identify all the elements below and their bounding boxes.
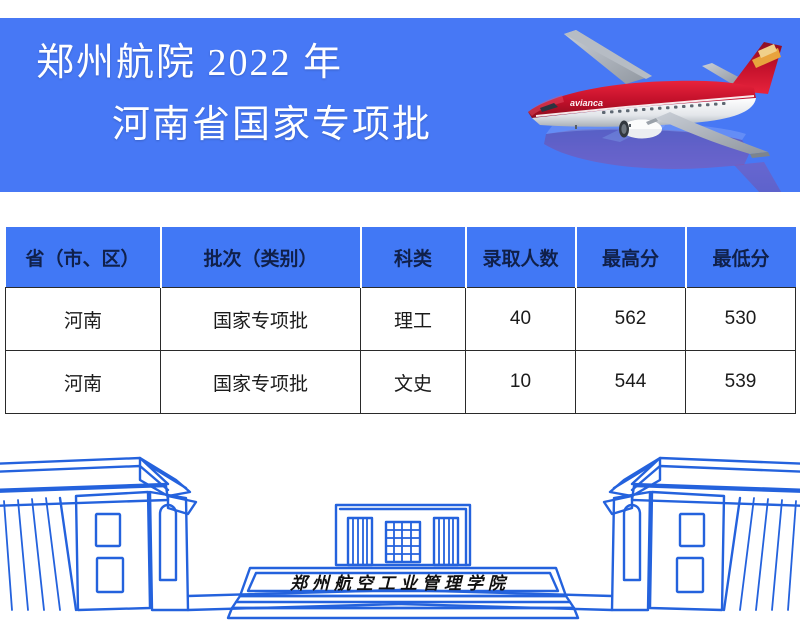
column-header-province: 省（市、区） bbox=[6, 227, 161, 288]
cell-category: 理工 bbox=[361, 288, 466, 351]
header-banner: 郑州航院 2022 年 河南省国家专项批 bbox=[0, 18, 800, 192]
column-header-lowest: 最低分 bbox=[686, 227, 796, 288]
left-gate-pavilion bbox=[0, 458, 400, 610]
table-row: 河南 国家专项批 文史 10 544 539 bbox=[6, 351, 796, 414]
center-pavilion bbox=[228, 505, 578, 618]
column-header-admitted: 录取人数 bbox=[466, 227, 576, 288]
cell-admitted: 40 bbox=[466, 288, 576, 351]
admission-score-table: 省（市、区） 批次（类别） 科类 录取人数 最高分 最低分 河南 国家专项批 理… bbox=[5, 227, 796, 414]
cell-batch: 国家专项批 bbox=[161, 288, 361, 351]
cell-lowest: 530 bbox=[686, 288, 796, 351]
cell-province: 河南 bbox=[6, 288, 161, 351]
cell-province: 河南 bbox=[6, 351, 161, 414]
column-header-category: 科类 bbox=[361, 227, 466, 288]
airliner-icon: avianca bbox=[506, 26, 796, 192]
right-gate-pavilion bbox=[400, 458, 800, 610]
university-gate-illustration: 郑州航空工业管理学院 bbox=[0, 440, 800, 636]
cell-lowest: 539 bbox=[686, 351, 796, 414]
cell-batch: 国家专项批 bbox=[161, 351, 361, 414]
cell-highest: 562 bbox=[576, 288, 686, 351]
column-header-highest: 最高分 bbox=[576, 227, 686, 288]
cell-admitted: 10 bbox=[466, 351, 576, 414]
banner-title-line-1: 郑州航院 2022 年 bbox=[0, 32, 560, 94]
column-header-batch: 批次（类别） bbox=[161, 227, 361, 288]
banner-title-line-2: 河南省国家专项批 bbox=[0, 94, 560, 156]
table-row: 河南 国家专项批 理工 40 562 530 bbox=[6, 288, 796, 351]
table-header-row: 省（市、区） 批次（类别） 科类 录取人数 最高分 最低分 bbox=[6, 227, 796, 288]
cell-highest: 544 bbox=[576, 351, 686, 414]
cell-category: 文史 bbox=[361, 351, 466, 414]
banner-title: 郑州航院 2022 年 河南省国家专项批 bbox=[0, 32, 560, 156]
svg-text:avianca: avianca bbox=[570, 98, 603, 108]
